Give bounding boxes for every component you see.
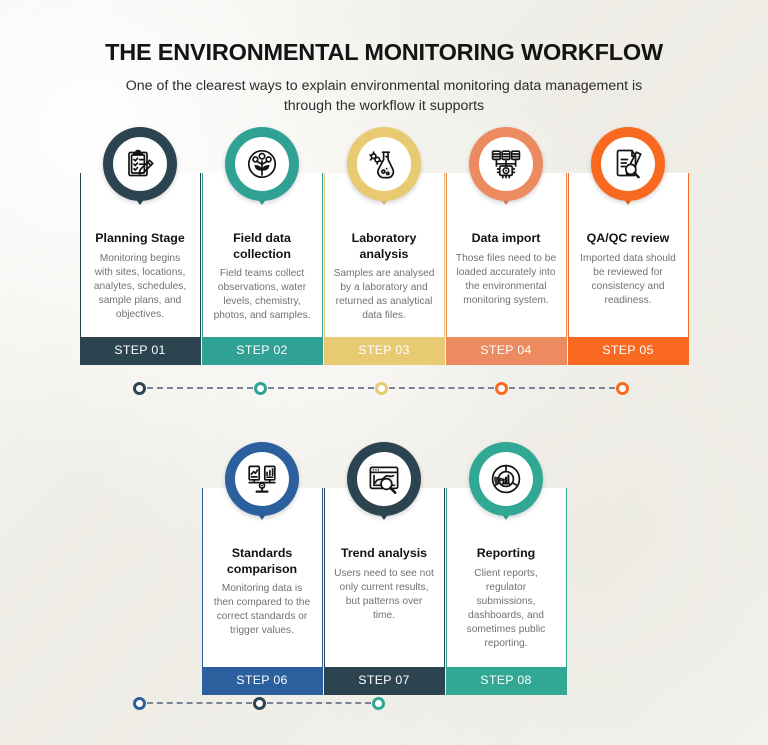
step-label-bar: STEP 06 <box>203 667 322 694</box>
card-title: Reporting <box>477 546 536 562</box>
connector-dash-line <box>147 387 253 389</box>
card-description: Client reports, regulator submissions, d… <box>456 567 557 651</box>
donut-bar-chart-icon <box>479 452 533 506</box>
workflow-row-1: Planning StageMonitoring begins with sit… <box>0 173 768 365</box>
card-title: Planning Stage <box>95 231 185 247</box>
step-label-bar: STEP 07 <box>325 667 444 694</box>
step-pin-marker <box>591 127 665 201</box>
step-pin-marker <box>469 442 543 516</box>
clipboard-checklist-pencil-icon <box>113 137 167 191</box>
card-description: Monitoring data is then compared to the … <box>212 582 313 638</box>
plant-sprout-circle-icon <box>235 137 289 191</box>
page-subtitle: One of the clearest ways to explain envi… <box>0 76 768 116</box>
connector-dot <box>372 697 385 710</box>
balance-scale-charts-icon <box>235 452 289 506</box>
pin-circle <box>347 127 421 201</box>
pin-circle <box>591 127 665 201</box>
connector-dash-line <box>389 387 495 389</box>
step-label-bar: STEP 01 <box>81 337 200 364</box>
workflow-card[interactable]: Standards comparisonMonitoring data is t… <box>202 488 323 695</box>
connector-row-1 <box>133 381 629 395</box>
pin-circle <box>469 127 543 201</box>
pin-circle <box>347 442 421 516</box>
flask-molecule-icon <box>357 137 411 191</box>
step-pin-marker <box>347 442 421 516</box>
step-pin-marker <box>469 127 543 201</box>
card-group-row-2: Standards comparisonMonitoring data is t… <box>0 488 768 695</box>
workflow-card[interactable]: QA/QC reviewImported data should be revi… <box>568 173 689 365</box>
workflow-card[interactable]: Trend analysisUsers need to see not only… <box>324 488 445 695</box>
workflow-card[interactable]: Planning StageMonitoring begins with sit… <box>80 173 201 365</box>
step-pin-marker <box>225 127 299 201</box>
card-title: Field data collection <box>212 231 313 262</box>
connector-dot <box>616 382 629 395</box>
page-title: THE ENVIRONMENTAL MONITORING WORKFLOW <box>0 38 768 66</box>
step-label-bar: STEP 03 <box>325 337 444 364</box>
connector-dot <box>375 382 388 395</box>
pin-circle <box>225 442 299 516</box>
connector-dot <box>133 697 146 710</box>
card-group-row-1: Planning StageMonitoring begins with sit… <box>0 173 768 365</box>
pin-circle <box>225 127 299 201</box>
workflow-card[interactable]: ReportingClient reports, regulator submi… <box>446 488 567 695</box>
workflow-row-2: Standards comparisonMonitoring data is t… <box>0 488 768 695</box>
header: THE ENVIRONMENTAL MONITORING WORKFLOW On… <box>0 38 768 117</box>
step-pin-marker <box>103 127 177 201</box>
workflow-card[interactable]: Field data collectionField teams collect… <box>202 173 323 365</box>
step-label-bar: STEP 08 <box>447 667 566 694</box>
connector-dash-line <box>267 702 372 704</box>
card-title: Standards comparison <box>212 546 313 577</box>
connector-row-2 <box>133 696 385 710</box>
step-pin-marker <box>225 442 299 516</box>
card-description: Users need to see not only current resul… <box>334 567 435 623</box>
document-magnifier-icon <box>601 137 655 191</box>
connector-dot <box>495 382 508 395</box>
card-title: Trend analysis <box>341 546 427 562</box>
trend-chart-magnifier-icon <box>357 452 411 506</box>
card-title: QA/QC review <box>587 231 670 247</box>
step-label-bar: STEP 04 <box>447 337 566 364</box>
step-pin-marker <box>347 127 421 201</box>
server-chip-icon <box>479 137 533 191</box>
workflow-card[interactable]: Laboratory analysisSamples are analysed … <box>324 173 445 365</box>
connector-dot <box>133 382 146 395</box>
pin-circle <box>469 442 543 516</box>
card-title: Laboratory analysis <box>334 231 435 262</box>
workflow-card[interactable]: Data importThose files need to be loaded… <box>446 173 567 365</box>
card-description: Monitoring begins with sites, locations,… <box>90 252 191 322</box>
pin-circle <box>103 127 177 201</box>
connector-dot <box>253 697 266 710</box>
connector-dash-line <box>268 387 374 389</box>
infographic-root: THE ENVIRONMENTAL MONITORING WORKFLOW On… <box>0 0 768 745</box>
card-title: Data import <box>472 231 541 247</box>
card-description: Imported data should be reviewed for con… <box>578 252 679 308</box>
connector-dash-line <box>509 387 615 389</box>
step-label-bar: STEP 05 <box>569 337 688 364</box>
connector-dash-line <box>147 702 252 704</box>
card-description: Field teams collect observations, water … <box>212 267 313 323</box>
card-description: Samples are analysed by a laboratory and… <box>334 267 435 323</box>
connector-dot <box>254 382 267 395</box>
step-label-bar: STEP 02 <box>203 337 322 364</box>
card-description: Those files need to be loaded accurately… <box>456 252 557 308</box>
